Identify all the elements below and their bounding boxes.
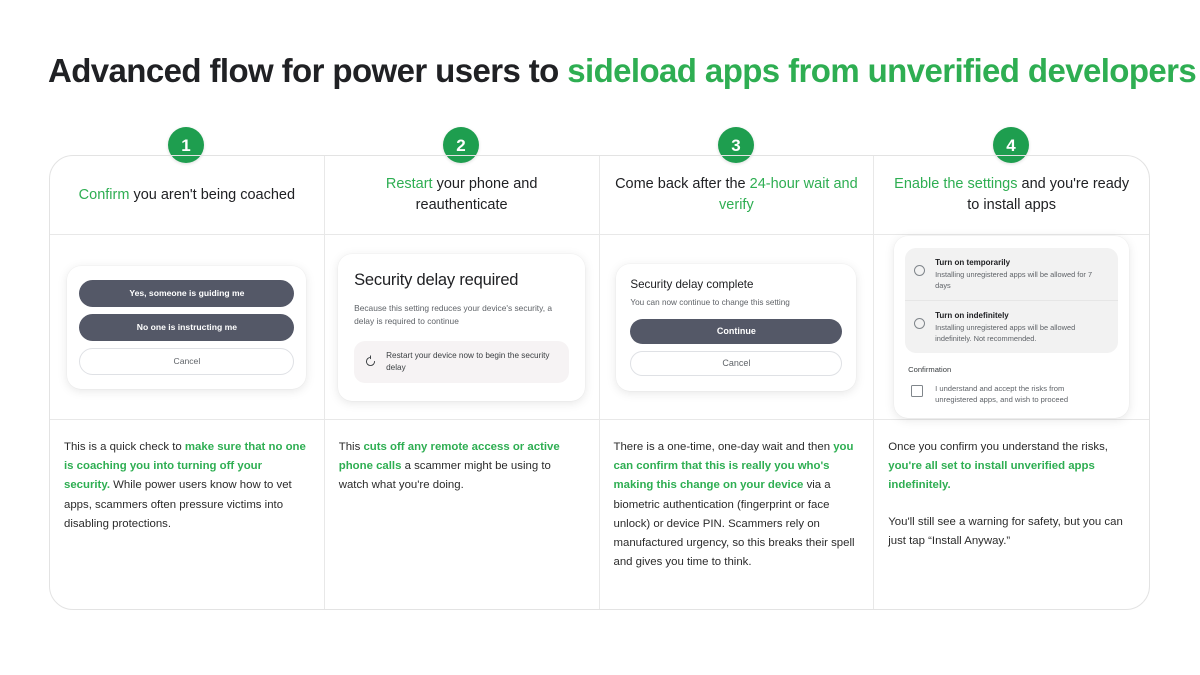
radio-option-title: Turn on indefinitely — [935, 310, 1107, 321]
step-column-3: Come back after the 24-hour wait and ver… — [600, 156, 875, 609]
cancel-button[interactable]: Cancel — [79, 348, 294, 375]
choice-sheet: Yes, someone is guiding me No one is ins… — [67, 266, 306, 389]
risk-acknowledgement-row[interactable]: I understand and accept the risks from u… — [905, 374, 1118, 405]
step-heading-1-highlight: Confirm — [79, 187, 130, 203]
delay-complete-dialog: Security delay complete You can now cont… — [616, 264, 856, 391]
step-mockup-2: Security delay required Because this set… — [325, 235, 599, 420]
infographic-page: Advanced flow for power users to sideloa… — [0, 0, 1200, 675]
restart-icon — [364, 355, 377, 368]
step-mockup-3: Security delay complete You can now cont… — [600, 235, 874, 420]
steps-grid: Confirm you aren't being coached Yes, so… — [49, 155, 1150, 610]
radio-option-subtitle: Installing unregistered apps will be all… — [935, 323, 1107, 344]
settings-panel: Turn on temporarily Installing unregiste… — [894, 236, 1129, 418]
step-heading-1: Confirm you aren't being coached — [50, 156, 324, 235]
step-heading-2: Restart your phone and reauthenticate — [325, 156, 599, 235]
guided-yes-button[interactable]: Yes, someone is guiding me — [79, 280, 294, 307]
step-badge-3-number: 3 — [731, 137, 740, 154]
step-heading-4: Enable the settings and you're ready to … — [874, 156, 1149, 235]
step-column-4: Enable the settings and you're ready to … — [874, 156, 1149, 609]
restart-device-text: Restart your device now to begin the sec… — [386, 350, 559, 374]
install-duration-radio-group: Turn on temporarily Installing unregiste… — [905, 248, 1118, 353]
step-description-2: This cuts off any remote access or activ… — [325, 420, 599, 609]
checkbox-icon[interactable] — [911, 385, 923, 397]
step-column-2: Restart your phone and reauthenticate Se… — [325, 156, 600, 609]
step-description-3: There is a one-time, one-day wait and th… — [600, 420, 874, 609]
continue-button[interactable]: Continue — [630, 319, 842, 344]
step-heading-2-rest: your phone and reauthenticate — [416, 176, 538, 213]
step-heading-4-highlight: Enable the settings — [894, 176, 1017, 192]
step-column-1: Confirm you aren't being coached Yes, so… — [50, 156, 325, 609]
radio-option-indefinite[interactable]: Turn on indefinitely Installing unregist… — [905, 300, 1118, 353]
restart-device-tile[interactable]: Restart your device now to begin the sec… — [354, 341, 569, 383]
page-title: Advanced flow for power users to sideloa… — [48, 50, 1168, 92]
step-description-4: Once you confirm you understand the risk… — [874, 420, 1149, 609]
page-title-plain: Advanced flow for power users to — [48, 52, 567, 89]
radio-icon[interactable] — [914, 265, 925, 276]
step-badge-1-number: 1 — [181, 137, 190, 154]
description-paragraph: This is a quick check to make sure that … — [64, 438, 308, 534]
step-heading-3: Come back after the 24-hour wait and ver… — [600, 156, 874, 235]
radio-option-temporary[interactable]: Turn on temporarily Installing unregiste… — [905, 248, 1118, 300]
step-description-1: This is a quick check to make sure that … — [50, 420, 324, 609]
step-mockup-4: Turn on temporarily Installing unregiste… — [874, 235, 1149, 420]
security-delay-dialog: Security delay required Because this set… — [338, 254, 585, 401]
description-paragraph: You'll still see a warning for safety, b… — [888, 513, 1133, 551]
step-mockup-1: Yes, someone is guiding me No one is ins… — [50, 235, 324, 420]
radio-icon[interactable] — [914, 318, 925, 329]
page-title-highlight: sideload apps from unverified developers — [567, 52, 1196, 89]
step-heading-2-highlight: Restart — [386, 176, 433, 192]
delay-complete-body: You can now continue to change this sett… — [630, 298, 842, 307]
step-badge-2-number: 2 — [456, 137, 465, 154]
description-paragraph: There is a one-time, one-day wait and th… — [614, 438, 858, 572]
radio-option-subtitle: Installing unregistered apps will be all… — [935, 270, 1107, 291]
security-delay-body: Because this setting reduces your device… — [354, 302, 569, 328]
cancel-button[interactable]: Cancel — [630, 351, 842, 376]
guided-no-button[interactable]: No one is instructing me — [79, 314, 294, 341]
step-heading-1-rest: you aren't being coached — [129, 187, 295, 203]
delay-complete-title: Security delay complete — [630, 278, 842, 291]
confirmation-label: Confirmation — [908, 365, 1118, 374]
security-delay-title: Security delay required — [354, 270, 569, 291]
description-paragraph: Once you confirm you understand the risk… — [888, 438, 1133, 496]
risk-acknowledgement-text: I understand and accept the risks from u… — [935, 383, 1108, 405]
step-heading-3-rest: Come back after the — [615, 176, 750, 192]
radio-option-title: Turn on temporarily — [935, 257, 1107, 268]
description-paragraph: This cuts off any remote access or activ… — [339, 438, 583, 496]
step-badge-4-number: 4 — [1006, 137, 1015, 154]
